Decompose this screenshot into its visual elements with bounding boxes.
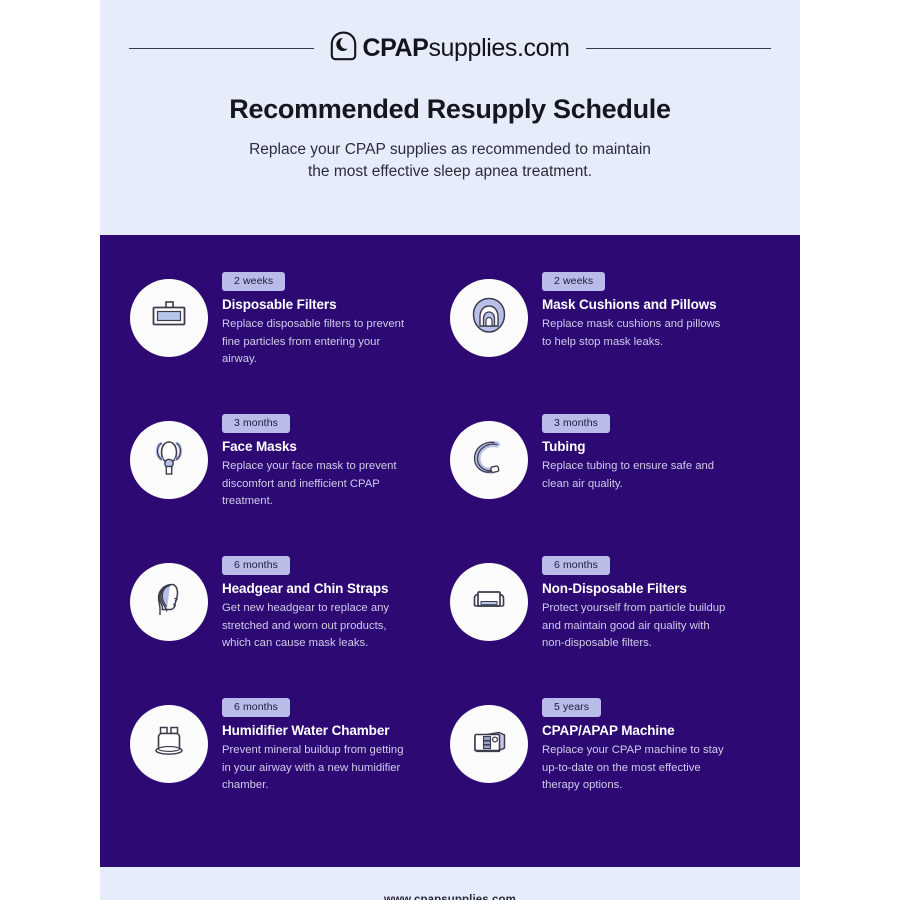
logo-rule-right: [586, 48, 771, 49]
item-title: CPAP/APAP Machine: [542, 723, 770, 738]
item-description: Replace tubing to ensure safe and clean …: [542, 458, 727, 493]
item-description: Replace your face mask to prevent discom…: [222, 458, 407, 511]
icon-badge: [450, 705, 528, 783]
item-description: Prevent mineral buildup from getting in …: [222, 742, 407, 795]
item-text: 5 years CPAP/APAP Machine Replace your C…: [542, 697, 770, 795]
schedule-grid: 2 weeks Disposable Filters Replace dispo…: [130, 271, 770, 839]
schedule-panel: 2 weeks Disposable Filters Replace dispo…: [100, 235, 800, 867]
item-title: Headgear and Chin Straps: [222, 581, 450, 596]
interval-badge: 2 weeks: [222, 272, 285, 291]
item-title: Tubing: [542, 439, 770, 454]
icon-badge: [450, 279, 528, 357]
schedule-item[interactable]: 2 weeks Mask Cushions and Pillows Replac…: [450, 271, 770, 413]
icon-badge: [130, 421, 208, 499]
icon-badge: [130, 279, 208, 357]
item-text: 3 months Tubing Replace tubing to ensure…: [542, 413, 770, 493]
schedule-item[interactable]: 3 months Tubing Replace tubing to ensure…: [450, 413, 770, 555]
interval-badge: 2 weeks: [542, 272, 605, 291]
page-subtitle-line1: Replace your CPAP supplies as recommende…: [100, 139, 800, 161]
item-title: Humidifier Water Chamber: [222, 723, 450, 738]
interval-badge: 5 years: [542, 698, 601, 717]
page-subtitle: Replace your CPAP supplies as recommende…: [100, 139, 800, 184]
cpap-machine-icon: [466, 719, 512, 770]
item-text: 6 months Non-Disposable Filters Protect …: [542, 555, 770, 653]
icon-badge: [130, 705, 208, 783]
icon-badge: [450, 421, 528, 499]
item-description: Protect yourself from particle buildup a…: [542, 600, 727, 653]
schedule-item[interactable]: 6 months Headgear and Chin Straps Get ne…: [130, 555, 450, 697]
interval-badge: 3 months: [222, 414, 290, 433]
interval-badge: 6 months: [222, 556, 290, 575]
brand-name-bold: CPAP: [362, 34, 428, 62]
schedule-item[interactable]: 6 months Non-Disposable Filters Protect …: [450, 555, 770, 697]
item-description: Get new headgear to replace any stretche…: [222, 600, 407, 653]
item-text: 2 weeks Disposable Filters Replace dispo…: [222, 271, 450, 369]
icon-badge: [450, 563, 528, 641]
icon-badge: [130, 563, 208, 641]
non-disposable-filter-icon: [466, 577, 512, 628]
footer-url[interactable]: www.cpapsupplies.com: [384, 894, 516, 900]
schedule-item[interactable]: 3 months Face Masks Replace your face ma…: [130, 413, 450, 555]
item-description: Replace disposable filters to prevent fi…: [222, 316, 407, 369]
interval-badge: 6 months: [542, 556, 610, 575]
item-title: Non-Disposable Filters: [542, 581, 770, 596]
header: CPAPsupplies.com Recommended Resupply Sc…: [100, 0, 800, 235]
humidifier-chamber-icon: [146, 719, 192, 770]
item-description: Replace mask cushions and pillows to hel…: [542, 316, 727, 351]
footer: www.cpapsupplies.com: [100, 867, 800, 900]
interval-badge: 3 months: [542, 414, 610, 433]
schedule-item[interactable]: 2 weeks Disposable Filters Replace dispo…: [130, 271, 450, 413]
headgear-chinstrap-icon: [146, 577, 192, 628]
item-text: 6 months Headgear and Chin Straps Get ne…: [222, 555, 450, 653]
brand-name: CPAPsupplies.com: [362, 34, 569, 63]
infographic-sheet: CPAPsupplies.com Recommended Resupply Sc…: [100, 0, 800, 900]
item-text: 2 weeks Mask Cushions and Pillows Replac…: [542, 271, 770, 351]
brand-name-light: supplies.com: [428, 34, 569, 62]
schedule-item[interactable]: 6 months Humidifier Water Chamber Preven…: [130, 697, 450, 839]
item-text: 3 months Face Masks Replace your face ma…: [222, 413, 450, 511]
interval-badge: 6 months: [222, 698, 290, 717]
face-mask-icon: [146, 435, 192, 486]
item-text: 6 months Humidifier Water Chamber Preven…: [222, 697, 450, 795]
item-title: Face Masks: [222, 439, 450, 454]
item-description: Replace your CPAP machine to stay up-to-…: [542, 742, 727, 795]
infographic-page: CPAPsupplies.com Recommended Resupply Sc…: [0, 0, 900, 900]
item-title: Disposable Filters: [222, 297, 450, 312]
page-subtitle-line2: the most effective sleep apnea treatment…: [100, 161, 800, 183]
moon-mask-logo-icon: [330, 31, 357, 66]
brand-logo[interactable]: CPAPsupplies.com: [330, 31, 569, 66]
page-title: Recommended Resupply Schedule: [100, 94, 800, 125]
tubing-icon: [466, 435, 512, 486]
item-title: Mask Cushions and Pillows: [542, 297, 770, 312]
brand-logo-row: CPAPsupplies.com: [100, 28, 800, 68]
mask-cushion-icon: [466, 293, 512, 344]
schedule-item[interactable]: 5 years CPAP/APAP Machine Replace your C…: [450, 697, 770, 839]
disposable-filter-icon: [146, 293, 192, 344]
logo-rule-left: [129, 48, 314, 49]
